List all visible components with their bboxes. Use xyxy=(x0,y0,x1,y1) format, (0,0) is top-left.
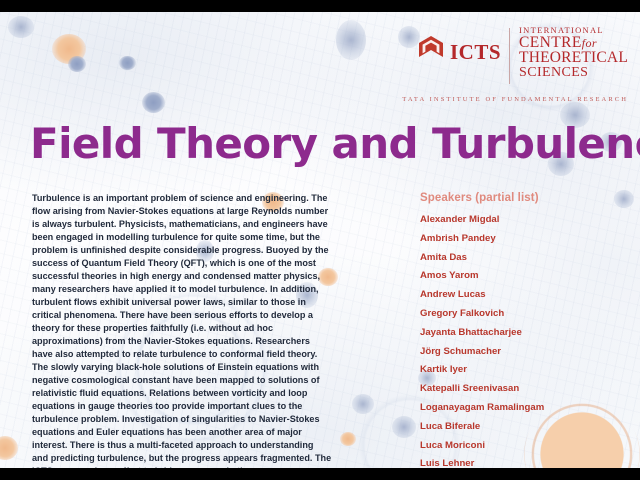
speaker-name: Andrew Lucas xyxy=(420,288,635,301)
icts-diamond-icon xyxy=(418,35,444,66)
letterbox-top xyxy=(0,0,640,12)
speaker-name: Amita Das xyxy=(420,251,635,264)
speakers-list: Alexander MigdalAmbrish PandeyAmita DasA… xyxy=(420,213,635,468)
speaker-name: Amos Yarom xyxy=(420,269,635,282)
speaker-name: Jörg Schumacher xyxy=(420,345,635,358)
speaker-name: Luca Moriconi xyxy=(420,439,635,452)
speakers-heading: Speakers (partial list) xyxy=(420,192,635,204)
abstract-text: Turbulence is an important problem of sc… xyxy=(32,192,332,468)
video-frame: ICTS INTERNATIONAL CENTREfor THEORETICAL… xyxy=(0,0,640,480)
abstract-paragraph: Turbulence is an important problem of sc… xyxy=(32,192,332,468)
speaker-name: Gregory Falkovich xyxy=(420,307,635,320)
speaker-name: Katepalli Sreenivasan xyxy=(420,382,635,395)
speaker-name: Kartik Iyer xyxy=(420,363,635,376)
speakers-panel: Speakers (partial list) Alexander Migdal… xyxy=(420,192,635,468)
logo-for-text: for xyxy=(582,36,597,50)
letterbox-bottom xyxy=(0,468,640,480)
logo-divider xyxy=(509,28,510,84)
page-title: Field Theory and Turbulence xyxy=(30,119,640,168)
vortex-blue-11 xyxy=(352,394,374,414)
vortex-orange-4 xyxy=(340,432,356,446)
speaker-name: Alexander Migdal xyxy=(420,213,635,226)
icts-fullname: INTERNATIONAL CENTREfor THEORETICAL SCIE… xyxy=(519,26,628,80)
logo-centre-text: CENTRE xyxy=(519,34,582,51)
speaker-name: Luis Lehner xyxy=(420,457,635,468)
icts-logo: ICTS INTERNATIONAL CENTREfor THEORETICAL… xyxy=(418,26,628,86)
icts-wordmark: ICTS xyxy=(450,40,501,65)
vortex-blue-1 xyxy=(68,56,86,72)
vortex-blue-5 xyxy=(336,20,366,60)
logo-line-theoretical: THEORETICAL xyxy=(519,50,628,66)
vortex-blue-4 xyxy=(8,16,34,38)
logo-line-sciences: SCIENCES xyxy=(519,66,628,80)
vortex-blue-2 xyxy=(119,56,136,70)
poster: ICTS INTERNATIONAL CENTREfor THEORETICAL… xyxy=(0,12,640,468)
speaker-name: Jayanta Bhattacharjee xyxy=(420,326,635,339)
speaker-name: Ambrish Pandey xyxy=(420,232,635,245)
vortex-blue-3 xyxy=(142,92,165,113)
vortex-blue-12 xyxy=(392,416,416,438)
icts-tagline: TATA INSTITUTE OF FUNDAMENTAL RESEARCH xyxy=(402,96,628,103)
speaker-name: Loganayagam Ramalingam xyxy=(420,401,635,414)
vortex-blue-6 xyxy=(398,26,420,48)
speaker-name: Luca Biferale xyxy=(420,420,635,433)
logo-line-centre: CENTREfor xyxy=(519,35,628,51)
